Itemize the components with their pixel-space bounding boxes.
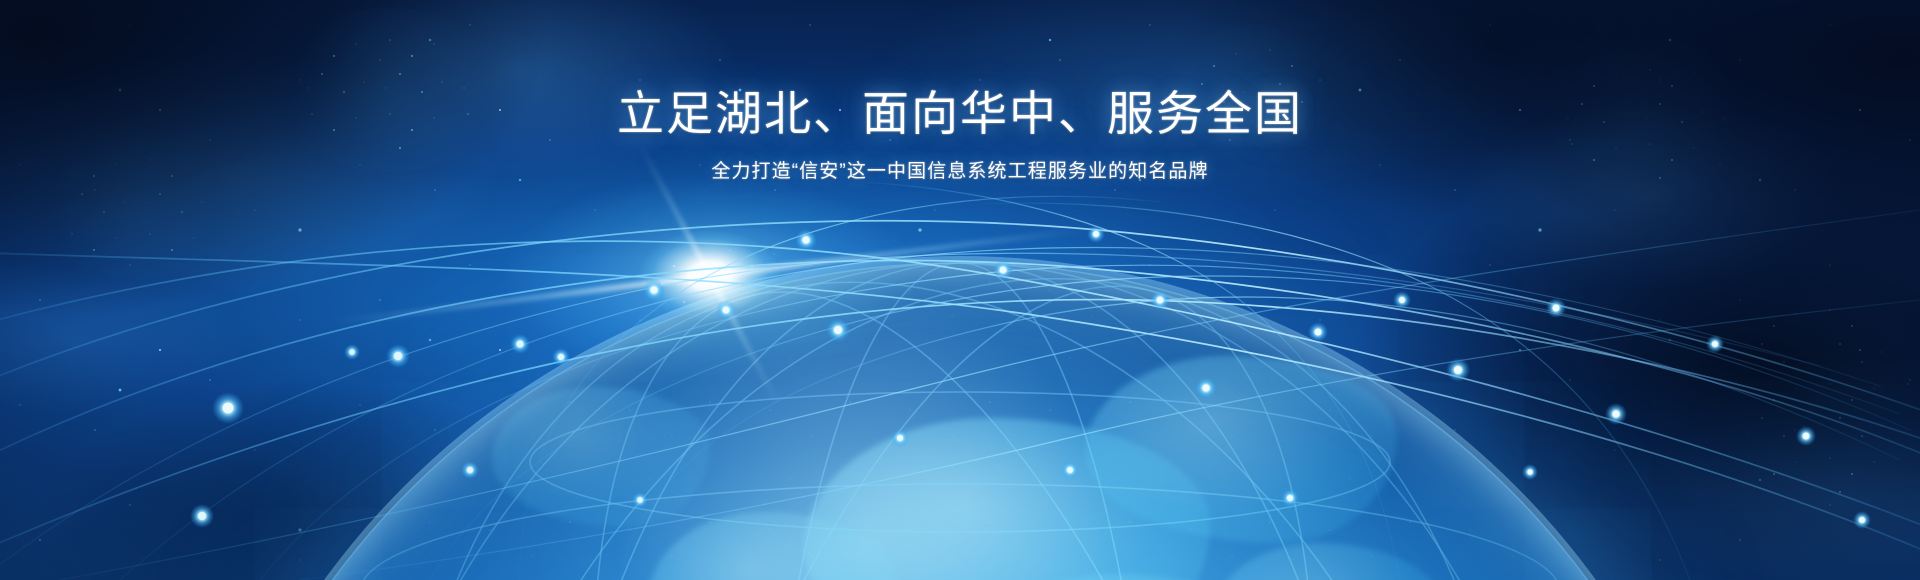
banner-headline: 立足湖北、面向华中、服务全国 (0, 86, 1920, 141)
hero-banner: 立足湖北、面向华中、服务全国 全力打造“信安”这一中国信息系统工程服务业的知名品… (0, 0, 1920, 580)
banner-subheadline: 全力打造“信安”这一中国信息系统工程服务业的知名品牌 (0, 159, 1920, 186)
banner-copy: 立足湖北、面向华中、服务全国 全力打造“信安”这一中国信息系统工程服务业的知名品… (0, 86, 1920, 186)
